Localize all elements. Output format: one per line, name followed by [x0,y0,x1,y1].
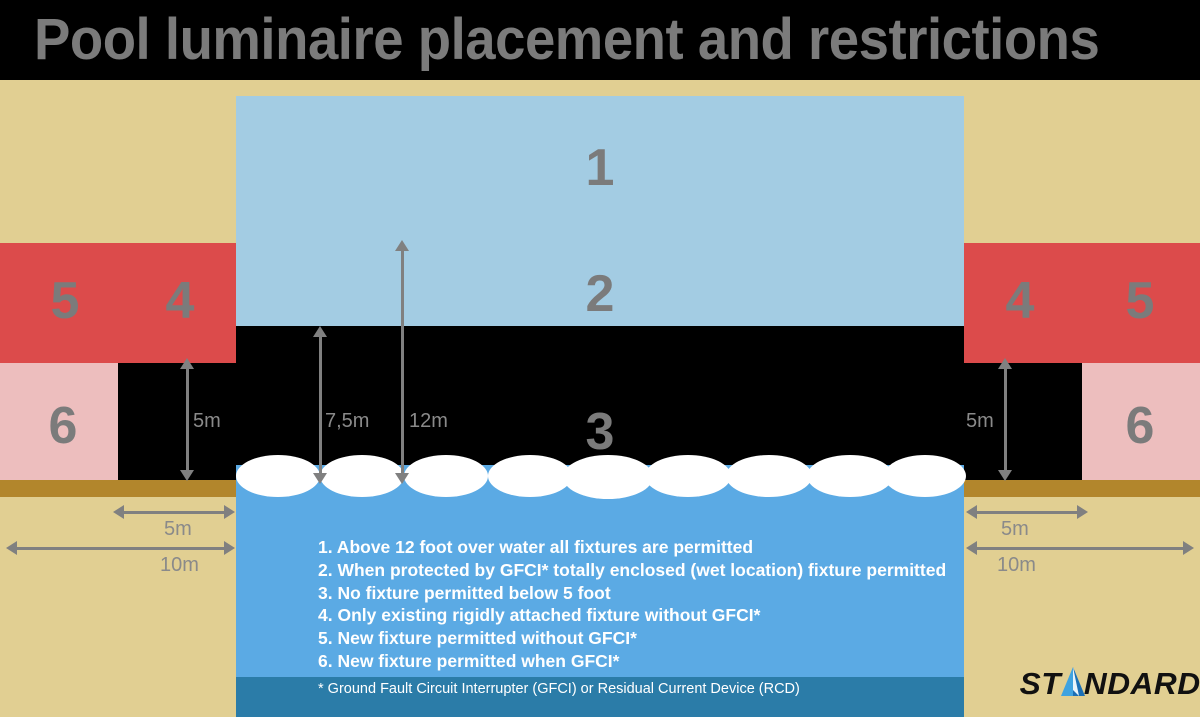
legend-item: 1. Above 12 foot over water all fixtures… [318,536,978,559]
dim-arrow-right-vertical-line [1004,368,1007,475]
legend-item: 6. New fixture permitted when GFCI* [318,650,978,673]
dim-arrowhead-right [1077,505,1088,519]
dim-arrowhead-up [998,358,1012,369]
water-surface-bubble [807,455,893,497]
water-surface-bubble [726,455,812,497]
legend-item: 5. New fixture permitted without GFCI* [318,627,978,650]
dim-label-75m: 7,5m [325,410,369,433]
dim-arrow-left-vertical-line [186,368,189,475]
dim-arrowhead-down [180,470,194,481]
water-surface-bubble [236,455,320,497]
legend-item: 2. When protected by GFCI* totally enclo… [318,559,978,582]
dim-label-left-vertical-5m: 5m [193,410,221,433]
dim-arrow-right-h10m-line [977,547,1184,550]
zone-digit-2: 2 [570,268,630,320]
water-surface-bubble [488,455,572,497]
dim-arrowhead-up [395,240,409,251]
dim-arrow-right-h5m-line [977,511,1078,514]
zone-digit-1: 1 [570,142,630,194]
dim-label-right-vertical-5m: 5m [966,410,994,433]
zone-digit-left-4: 4 [150,275,210,327]
water-surface-bubble [884,455,966,497]
dim-arrowhead-down [313,473,327,484]
zone-digit-3: 3 [570,406,630,458]
dim-arrow-75m-line [319,336,322,478]
dim-arrowhead-left [966,505,977,519]
zone-digit-right-4: 4 [990,275,1050,327]
ground-left-lower [0,497,236,717]
dim-label-right-h-5m: 5m [1001,518,1029,541]
zone-digit-left-6: 6 [33,400,93,452]
dim-arrowhead-right [224,505,235,519]
water-surface-bubble [645,455,731,497]
logo-text-part1: ST [1020,666,1061,702]
dim-arrowhead-up [313,326,327,337]
page-title: Pool luminaire placement and restriction… [34,6,1099,73]
dim-arrow-12m-line [401,250,404,478]
dim-label-right-h-10m: 10m [997,554,1036,577]
dim-arrowhead-left [6,541,17,555]
water-surface-bubble [563,455,653,499]
legend-list: 1. Above 12 foot over water all fixtures… [318,536,978,673]
dim-arrowhead-right [1183,541,1194,555]
infographic-canvas: Pool luminaire placement and restriction… [0,0,1200,717]
zone-digit-right-6: 6 [1110,400,1170,452]
legend-item: 4. Only existing rigidly attached fixtur… [318,604,978,627]
zone-digit-left-5: 5 [35,275,95,327]
dim-arrow-left-h10m-line [17,547,225,550]
water-surface-bubble [404,455,488,497]
dim-arrowhead-right [224,541,235,555]
dim-label-left-h-5m: 5m [164,518,192,541]
logo-triangle-icon [1060,666,1086,702]
title-bar: Pool luminaire placement and restriction… [0,0,1200,80]
standard-logo: ST NDARD ® [1020,666,1200,702]
dim-label-12m: 12m [409,410,448,433]
dim-arrow-left-h5m-line [124,511,225,514]
dim-arrowhead-up [180,358,194,369]
dim-arrowhead-down [998,470,1012,481]
legend-item: 3. No fixture permitted below 5 foot [318,582,978,605]
dim-label-left-h-10m: 10m [160,554,199,577]
water-surface-bubble [320,455,404,497]
zone-digit-right-5: 5 [1110,275,1170,327]
footnote-text: * Ground Fault Circuit Interrupter (GFCI… [318,681,800,697]
logo-text-part2: NDARD [1083,666,1200,702]
dim-arrowhead-down [395,473,409,484]
dim-arrowhead-left [113,505,124,519]
